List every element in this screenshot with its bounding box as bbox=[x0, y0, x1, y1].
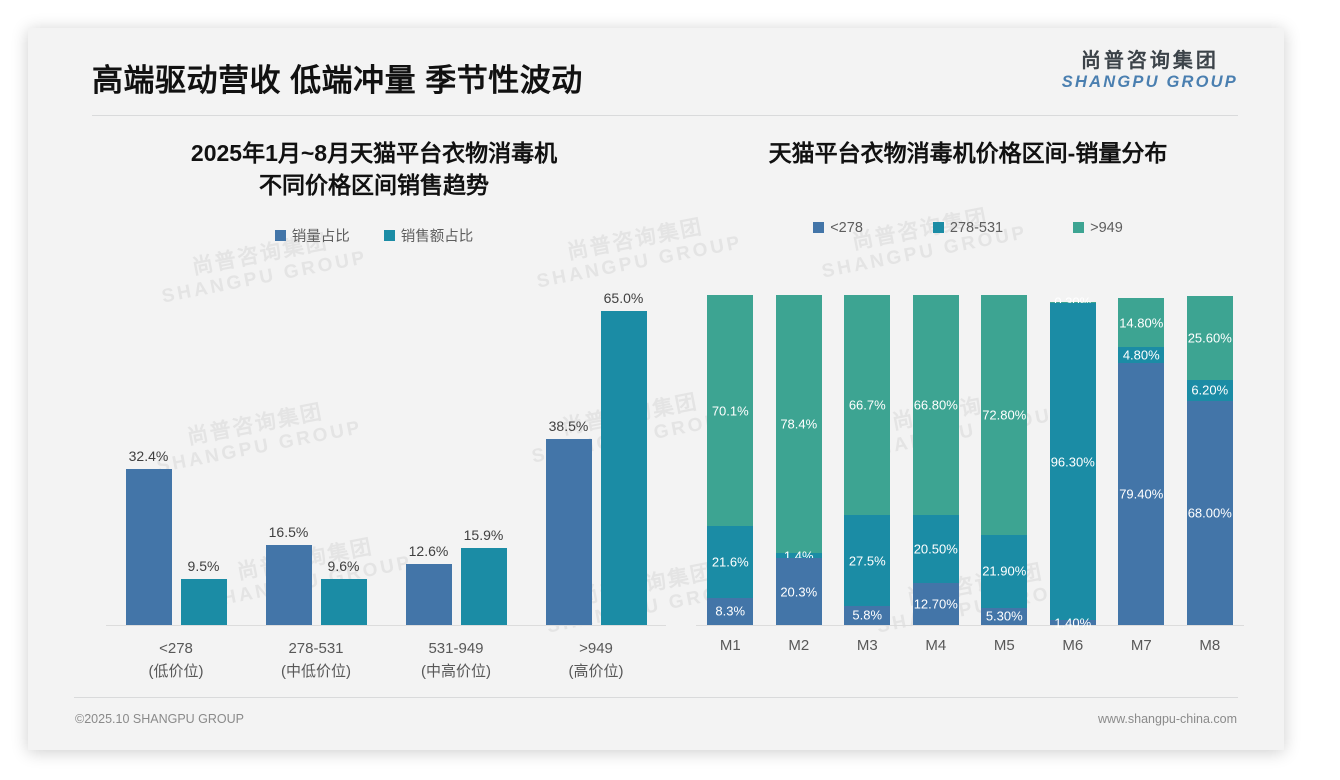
stack-segment[interactable]: 20.3% bbox=[776, 558, 822, 625]
stack-segment-label: 21.90% bbox=[982, 564, 1026, 579]
stacked-bar[interactable]: 25.60%6.20%68.00%M8 bbox=[1187, 296, 1233, 625]
stack-segment-label: 1.40% bbox=[1054, 615, 1091, 630]
chart-panel-right: 天猫平台衣物消毒机价格区间-销量分布 <278278-531>949 70.1%… bbox=[678, 138, 1258, 698]
stack-segment-label: 79.40% bbox=[1119, 487, 1163, 502]
bar[interactable]: 16.5% bbox=[266, 545, 312, 625]
footer-copyright: ©2025.10 SHANGPU GROUP bbox=[75, 712, 244, 726]
slide-canvas: 尚普咨询集团 SHANGPU GROUP 尚普咨询集团 SHANGPU GROU… bbox=[28, 28, 1284, 750]
plot-area-right: 70.1%21.6%8.3%M178.4%1.4%20.3%M266.7%27.… bbox=[696, 288, 1244, 626]
bar[interactable]: 12.6% bbox=[406, 564, 452, 625]
stack-segment-label: 4.80% bbox=[1123, 348, 1160, 363]
bar-wrapper: 38.5% bbox=[546, 439, 592, 625]
x-axis-label: M8 bbox=[1199, 637, 1220, 654]
legend-label: >949 bbox=[1090, 220, 1123, 236]
legend-swatch-icon bbox=[813, 222, 824, 233]
stack-segment-label: 27.5% bbox=[849, 553, 886, 568]
stacked-bar[interactable]: 0.30%96.30%1.40%M6 bbox=[1050, 302, 1096, 625]
x-axis-label: M6 bbox=[1062, 637, 1083, 654]
stack-segment[interactable]: 25.60% bbox=[1187, 296, 1233, 380]
stack-segment[interactable]: 4.80% bbox=[1118, 347, 1164, 363]
bar-group: 16.5%9.6%278-531(中低价位) bbox=[246, 288, 386, 625]
bar-wrapper: 12.6% bbox=[406, 564, 452, 625]
bar-wrapper: 9.5% bbox=[181, 579, 227, 625]
logo-english-text: SHANGPU GROUP bbox=[1062, 73, 1238, 93]
bar-wrapper: 65.0% bbox=[601, 311, 647, 625]
stacked-bar[interactable]: 14.80%4.80%79.40%M7 bbox=[1118, 298, 1164, 625]
chart-legend-left: 销量占比销售额占比 bbox=[74, 225, 674, 246]
stack-segment-label: 25.60% bbox=[1188, 330, 1232, 345]
stack-segment[interactable]: 8.3% bbox=[707, 598, 753, 625]
bar-wrapper: 32.4% bbox=[126, 469, 172, 625]
x-axis-label: <278(低价位) bbox=[149, 637, 204, 684]
legend-item[interactable]: 销量占比 bbox=[275, 225, 350, 246]
stack-segment-label: 20.50% bbox=[914, 542, 958, 557]
stack-segment-label: 70.1% bbox=[712, 403, 749, 418]
stack-segment-label: 5.8% bbox=[852, 608, 882, 623]
legend-swatch-icon bbox=[384, 230, 395, 241]
bar-wrapper: 16.5% bbox=[266, 545, 312, 625]
stack-segment[interactable]: 78.4% bbox=[776, 295, 822, 554]
x-axis-label: 278-531(中低价位) bbox=[281, 637, 351, 684]
stack-segment[interactable]: 12.70% bbox=[913, 583, 959, 625]
legend-swatch-icon bbox=[1073, 222, 1084, 233]
stack-segment[interactable]: 5.30% bbox=[981, 608, 1027, 625]
legend-label: 销售额占比 bbox=[401, 225, 474, 246]
legend-swatch-icon bbox=[275, 230, 286, 241]
stack-segment-label: 21.6% bbox=[712, 554, 749, 569]
stack-segment[interactable]: 6.20% bbox=[1187, 380, 1233, 400]
x-axis-label: M7 bbox=[1131, 637, 1152, 654]
legend-item[interactable]: <278 bbox=[813, 220, 863, 236]
x-axis-label-primary: <278 bbox=[149, 637, 204, 660]
bar-wrapper: 15.9% bbox=[461, 548, 507, 625]
x-axis-label: M5 bbox=[994, 637, 1015, 654]
stacked-bar[interactable]: 70.1%21.6%8.3%M1 bbox=[707, 295, 753, 625]
bar-value-label: 9.6% bbox=[328, 558, 360, 574]
x-axis-label-secondary: (高价位) bbox=[569, 660, 624, 683]
bar-value-label: 12.6% bbox=[409, 543, 449, 559]
legend-item[interactable]: 销售额占比 bbox=[384, 225, 474, 246]
stack-segment[interactable]: 66.80% bbox=[913, 295, 959, 515]
legend-label: 278-531 bbox=[950, 220, 1003, 236]
x-axis-label: M1 bbox=[720, 637, 741, 654]
stack-segment[interactable]: 21.6% bbox=[707, 526, 753, 597]
slide-header: 高端驱动营收 低端冲量 季节性波动 尚普咨询集团 SHANGPU GROUP bbox=[28, 28, 1284, 118]
stack-segment-label: 6.20% bbox=[1191, 383, 1228, 398]
stack-segment-label: 12.70% bbox=[914, 597, 958, 612]
plot-area-left: 32.4%9.5%<278(低价位)16.5%9.6%278-531(中低价位)… bbox=[106, 288, 666, 626]
stack-segment-label: 8.3% bbox=[715, 604, 745, 619]
stack-segment-label: 72.80% bbox=[982, 408, 1026, 423]
grouped-bar-chart: 32.4%9.5%<278(低价位)16.5%9.6%278-531(中低价位)… bbox=[92, 288, 666, 678]
stack-segment-label: 78.4% bbox=[780, 417, 817, 432]
chart-title-left: 2025年1月~8月天猫平台衣物消毒机 不同价格区间销售趋势 bbox=[74, 138, 674, 201]
brand-logo: 尚普咨询集团 SHANGPU GROUP bbox=[1062, 50, 1238, 93]
stack-segment-label: 14.80% bbox=[1119, 315, 1163, 330]
stack-segment[interactable]: 5.8% bbox=[844, 606, 890, 625]
stack-segment-label: 20.3% bbox=[780, 584, 817, 599]
chart-title-left-line1: 2025年1月~8月天猫平台衣物消毒机 bbox=[74, 138, 674, 170]
stack-segment[interactable]: 21.90% bbox=[981, 535, 1027, 607]
stack-segment-label: 5.30% bbox=[986, 609, 1023, 624]
x-axis-label: >949(高价位) bbox=[569, 637, 624, 684]
legend-item[interactable]: >949 bbox=[1073, 220, 1123, 236]
chart-legend-right: <278278-531>949 bbox=[678, 220, 1258, 236]
header-divider bbox=[92, 115, 1238, 116]
stack-segment-label: 66.7% bbox=[849, 398, 886, 413]
stack-segment-label: 68.00% bbox=[1188, 505, 1232, 520]
footer-website: www.shangpu-china.com bbox=[1098, 712, 1237, 726]
bar[interactable]: 65.0% bbox=[601, 311, 647, 625]
legend-label: <278 bbox=[830, 220, 863, 236]
stack-segment-label: 96.30% bbox=[1051, 454, 1095, 469]
x-axis-label: M4 bbox=[925, 637, 946, 654]
bar-group: 12.6%15.9%531-949(中高价位) bbox=[386, 288, 526, 625]
legend-swatch-icon bbox=[933, 222, 944, 233]
x-axis-label-primary: >949 bbox=[569, 637, 624, 660]
bar-value-label: 65.0% bbox=[604, 290, 644, 306]
x-axis-label: 531-949(中高价位) bbox=[421, 637, 491, 684]
chart-panel-left: 2025年1月~8月天猫平台衣物消毒机 不同价格区间销售趋势 销量占比销售额占比… bbox=[74, 138, 674, 698]
bar[interactable]: 9.5% bbox=[181, 579, 227, 625]
stacked-bar[interactable]: 72.80%21.90%5.30%M5 bbox=[981, 295, 1027, 625]
stack-segment[interactable]: 27.5% bbox=[844, 515, 890, 606]
bar[interactable]: 32.4% bbox=[126, 469, 172, 625]
x-axis-label: M2 bbox=[788, 637, 809, 654]
x-axis-label-primary: 531-949 bbox=[421, 637, 491, 660]
bar-value-label: 16.5% bbox=[269, 524, 309, 540]
stacked-bar[interactable]: 66.7%27.5%5.8%M3 bbox=[844, 295, 890, 625]
bar-group: 38.5%65.0%>949(高价位) bbox=[526, 288, 666, 625]
chart-title-left-line2: 不同价格区间销售趋势 bbox=[74, 170, 674, 202]
stack-segment-label: 66.80% bbox=[914, 398, 958, 413]
logo-chinese-text: 尚普咨询集团 bbox=[1062, 50, 1238, 73]
bar-value-label: 38.5% bbox=[549, 418, 589, 434]
stack-segment[interactable]: 66.7% bbox=[844, 295, 890, 515]
stack-segment[interactable]: 79.40% bbox=[1118, 363, 1164, 625]
page-title: 高端驱动营收 低端冲量 季节性波动 bbox=[92, 55, 583, 100]
x-axis-label-primary: 278-531 bbox=[281, 637, 351, 660]
bar-group: 32.4%9.5%<278(低价位) bbox=[106, 288, 246, 625]
bar[interactable]: 38.5% bbox=[546, 439, 592, 625]
bar-value-label: 32.4% bbox=[129, 448, 169, 464]
legend-label: 销量占比 bbox=[292, 225, 350, 246]
bar[interactable]: 9.6% bbox=[321, 579, 367, 625]
chart-title-right: 天猫平台衣物消毒机价格区间-销量分布 bbox=[678, 138, 1258, 170]
x-axis-label-secondary: (低价位) bbox=[149, 660, 204, 683]
bar-wrapper: 9.6% bbox=[321, 579, 367, 625]
bar[interactable]: 15.9% bbox=[461, 548, 507, 625]
x-axis-label-secondary: (中高价位) bbox=[421, 660, 491, 683]
stacked-bar-chart: 70.1%21.6%8.3%M178.4%1.4%20.3%M266.7%27.… bbox=[688, 288, 1248, 678]
stacked-bar[interactable]: 66.80%20.50%12.70%M4 bbox=[913, 295, 959, 625]
stack-segment[interactable]: 14.80% bbox=[1118, 298, 1164, 347]
footer-divider bbox=[74, 697, 1238, 698]
stack-segment[interactable]: 96.30% bbox=[1050, 303, 1096, 621]
stack-segment[interactable]: 1.40% bbox=[1050, 620, 1096, 625]
x-axis-label-secondary: (中低价位) bbox=[281, 660, 351, 683]
x-axis-label: M3 bbox=[857, 637, 878, 654]
bar-value-label: 9.5% bbox=[188, 558, 220, 574]
stack-segment[interactable]: 68.00% bbox=[1187, 401, 1233, 625]
stack-segment[interactable]: 72.80% bbox=[981, 295, 1027, 535]
stack-segment[interactable]: 20.50% bbox=[913, 515, 959, 583]
stacked-bar[interactable]: 78.4%1.4%20.3%M2 bbox=[776, 295, 822, 625]
legend-item[interactable]: 278-531 bbox=[933, 220, 1003, 236]
bar-value-label: 15.9% bbox=[464, 527, 504, 543]
stack-segment[interactable]: 70.1% bbox=[707, 295, 753, 526]
